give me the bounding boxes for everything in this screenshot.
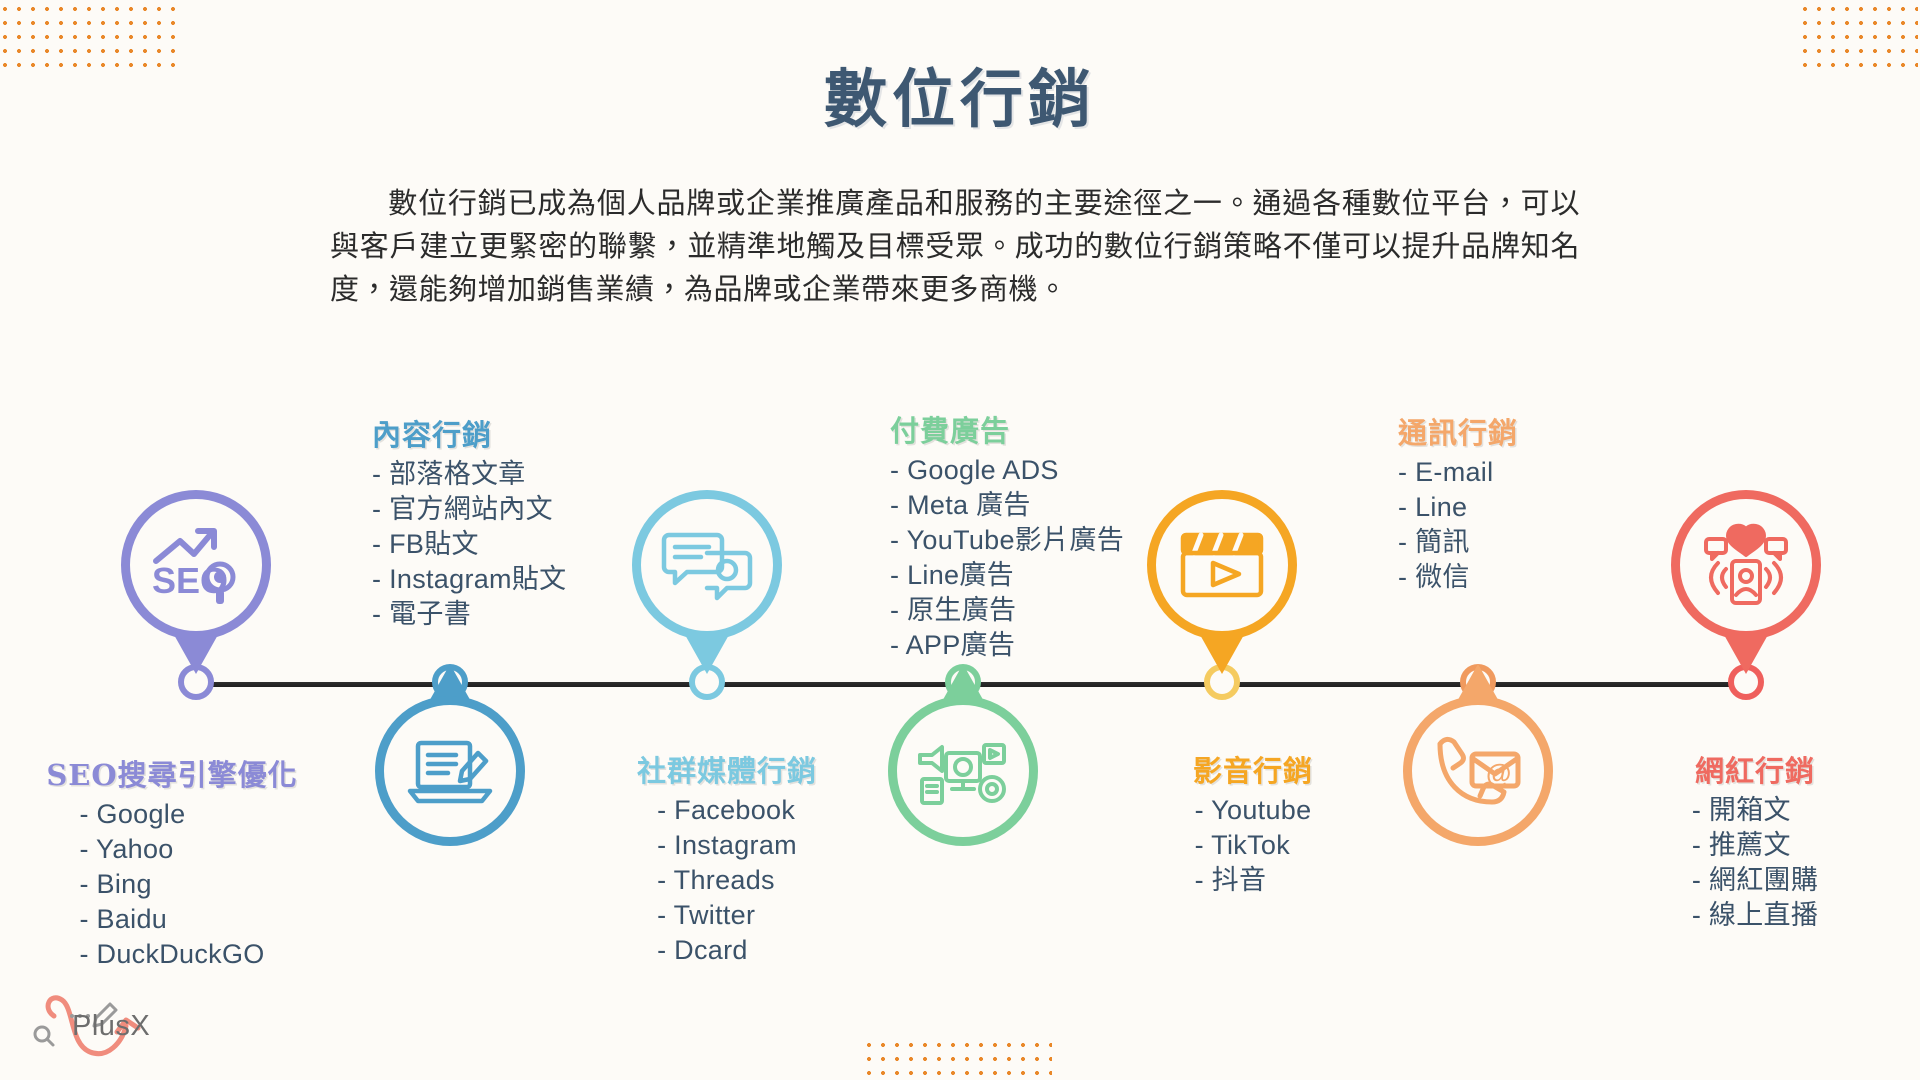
list-item: - 線上直播 xyxy=(1692,898,1818,933)
list-item: - Youtube xyxy=(1195,793,1312,828)
section-heading-influencer: 網紅行銷 xyxy=(1630,748,1880,790)
section-heading-seo: SEO搜尋引擎優化 xyxy=(22,752,322,794)
phone-envelope-icon: @ xyxy=(1403,696,1553,846)
list-item: - Yahoo xyxy=(79,832,264,867)
list-item: - 原生廣告 xyxy=(890,593,1190,628)
section-block-video: 影音行銷 - Youtube - TikTok - 抖音 xyxy=(1128,748,1378,898)
section-block-influencer: 網紅行銷 - 開箱文 - 推薦文 - 網紅團購 - 線上直播 xyxy=(1630,748,1880,933)
section-block-messaging: 通訊行銷 - E-mail - Line - 簡訊 - 微信 xyxy=(1398,410,1648,595)
list-item: - Facebook xyxy=(657,793,797,828)
decor-dots-top-right xyxy=(1798,2,1918,74)
list-item: - Dcard xyxy=(657,933,797,968)
list-item: - DuckDuckGO xyxy=(79,937,264,972)
section-list-content: - 部落格文章 - 官方網站內文 - FB貼文 - Instagram貼文 - … xyxy=(372,457,672,632)
list-item: - 官方網站內文 xyxy=(372,492,672,527)
list-item: - 部落格文章 xyxy=(372,457,672,492)
section-heading-video: 影音行銷 xyxy=(1128,748,1378,790)
pin-marker-seo[interactable]: SEO xyxy=(121,490,271,676)
list-item: - Bing xyxy=(79,867,264,902)
list-item: - 網紅團購 xyxy=(1692,863,1818,898)
section-list-messaging: - E-mail - Line - 簡訊 - 微信 xyxy=(1398,455,1648,595)
intro-paragraph-text: 數位行銷已成為個人品牌或企業推廣產品和服務的主要途徑之一。通過各種數位平台，可以… xyxy=(330,186,1580,306)
section-block-content: 內容行銷 - 部落格文章 - 官方網站內文 - FB貼文 - Instagram… xyxy=(372,412,672,632)
list-item: - FB貼文 xyxy=(372,527,672,562)
section-heading-paid: 付費廣告 xyxy=(890,408,1190,450)
decor-dots-top-left xyxy=(0,2,184,74)
section-list-paid: - Google ADS - Meta 廣告 - YouTube影片廣告 - L… xyxy=(890,453,1190,664)
section-block-seo: SEO搜尋引擎優化 - Google - Yahoo - Bing - Baid… xyxy=(22,752,322,972)
seo-magnifier-icon: SEO xyxy=(121,490,271,640)
smartphone-influencer-icon xyxy=(1671,490,1821,640)
pin-marker-content[interactable] xyxy=(375,696,525,882)
section-block-social: 社群媒體行銷 - Facebook - Instagram - Threads … xyxy=(592,748,862,968)
list-item: - Google ADS xyxy=(890,453,1190,488)
section-heading-social: 社群媒體行銷 xyxy=(592,748,862,790)
list-item: - Instagram xyxy=(657,828,797,863)
page-title: 數位行銷 xyxy=(0,68,1920,131)
list-item: - 微信 xyxy=(1398,560,1648,595)
list-item: - 簡訊 xyxy=(1398,525,1648,560)
decor-dots-bottom-center xyxy=(862,1038,1052,1078)
section-heading-messaging: 通訊行銷 xyxy=(1398,410,1648,452)
pin-marker-influencer[interactable] xyxy=(1671,490,1821,676)
list-item: - Baidu xyxy=(79,902,264,937)
plusx-logo-text: PlusX xyxy=(72,1010,150,1043)
list-item: - YouTube影片廣告 xyxy=(890,523,1190,558)
section-list-social: - Facebook - Instagram - Threads - Twitt… xyxy=(657,793,797,968)
list-item: - Instagram貼文 xyxy=(372,562,672,597)
list-item: - 電子書 xyxy=(372,597,672,632)
list-item: - TikTok xyxy=(1195,828,1312,863)
list-item: - Line廣告 xyxy=(890,558,1190,593)
section-list-video: - Youtube - TikTok - 抖音 xyxy=(1195,793,1312,898)
pin-marker-messaging[interactable]: @ xyxy=(1403,696,1553,882)
list-item: - E-mail xyxy=(1398,455,1648,490)
list-item: - Meta 廣告 xyxy=(890,488,1190,523)
infographic-canvas: 數位行銷 數位行銷已成為個人品牌或企業推廣產品和服務的主要途徑之一。通過各種數位… xyxy=(0,0,1920,1080)
section-list-seo: - Google - Yahoo - Bing - Baidu - DuckDu… xyxy=(79,797,264,972)
list-item: - Threads xyxy=(657,863,797,898)
intro-paragraph: 數位行銷已成為個人品牌或企業推廣產品和服務的主要途徑之一。通過各種數位平台，可以… xyxy=(330,182,1580,311)
pin-marker-paid[interactable] xyxy=(888,696,1038,882)
list-item: - Twitter xyxy=(657,898,797,933)
svg-text:@: @ xyxy=(1486,758,1511,788)
laptop-document-icon xyxy=(375,696,525,846)
list-item: - 推薦文 xyxy=(1692,828,1818,863)
list-item: - Google xyxy=(79,797,264,832)
list-item: - Line xyxy=(1398,490,1648,525)
megaphone-screen-icon xyxy=(888,696,1038,846)
list-item: - APP廣告 xyxy=(890,628,1190,663)
section-block-paid: 付費廣告 - Google ADS - Meta 廣告 - YouTube影片廣… xyxy=(890,408,1190,664)
list-item: - 開箱文 xyxy=(1692,793,1818,828)
list-item: - 抖音 xyxy=(1195,863,1312,898)
section-list-influencer: - 開箱文 - 推薦文 - 網紅團購 - 線上直播 xyxy=(1692,793,1818,933)
plusx-logo: PlusX xyxy=(24,990,164,1062)
section-heading-content: 內容行銷 xyxy=(372,412,672,454)
